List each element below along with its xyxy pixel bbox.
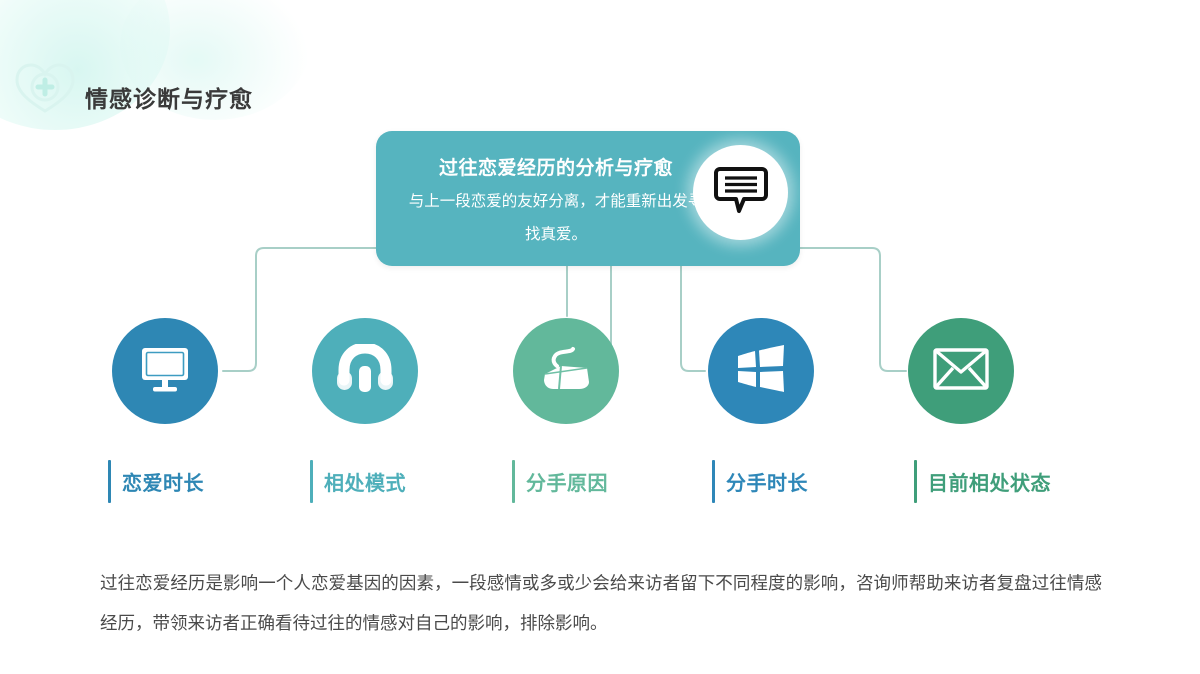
node-circle-envelope[interactable] (908, 318, 1014, 424)
node-label-text: 目前相处状态 (928, 467, 1051, 496)
label-accent-bar (310, 460, 313, 503)
slide-header: 情感诊断与疗愈 (0, 30, 1200, 92)
computer-mouse-icon (537, 344, 595, 399)
node-circle-windows[interactable] (708, 318, 814, 424)
node-label-current-status: 目前相处状态 (914, 460, 1051, 503)
node-label-text: 分手时长 (726, 467, 808, 496)
windows-logo-icon (735, 344, 787, 399)
node-label-text: 相处模式 (324, 467, 406, 496)
node-label-text: 分手原因 (526, 467, 608, 496)
speech-bubble-icon (714, 165, 768, 220)
body-paragraph: 过往恋爱经历是影响一个人恋爱基因的因素，一段感情或多或少会给来访者留下不同程度的… (100, 563, 1102, 643)
hero-card: 过往恋爱经历的分析与疗愈 与上一段恋爱的友好分离，才能重新出发寻找真爱。 (376, 131, 800, 266)
hero-card-subtitle: 与上一段恋爱的友好分离，才能重新出发寻找真爱。 (406, 185, 706, 251)
label-accent-bar (712, 460, 715, 503)
node-circle-monitor[interactable] (112, 318, 218, 424)
label-accent-bar (914, 460, 917, 503)
node-label-love-duration: 恋爱时长 (108, 460, 204, 503)
node-label-breakup-reason: 分手原因 (512, 460, 608, 503)
headphones-icon (334, 344, 396, 399)
node-label-relationship-mode: 相处模式 (310, 460, 406, 503)
monitor-icon (138, 344, 192, 399)
label-accent-bar (108, 460, 111, 503)
node-circle-headphones[interactable] (312, 318, 418, 424)
node-label-breakup-duration: 分手时长 (712, 460, 808, 503)
heart-medical-cross-icon (14, 62, 76, 114)
slide-canvas: 情感诊断与疗愈 过往恋爱经历的分析与疗愈 与上一段恋爱的友好分离，才能重新出发寻… (0, 0, 1200, 674)
envelope-icon (932, 346, 990, 397)
node-label-text: 恋爱时长 (122, 467, 204, 496)
hero-card-badge (693, 145, 788, 240)
page-title: 情感诊断与疗愈 (85, 80, 253, 114)
hero-card-title: 过往恋爱经历的分析与疗愈 (406, 153, 706, 180)
label-accent-bar (512, 460, 515, 503)
node-circle-mouse[interactable] (513, 318, 619, 424)
